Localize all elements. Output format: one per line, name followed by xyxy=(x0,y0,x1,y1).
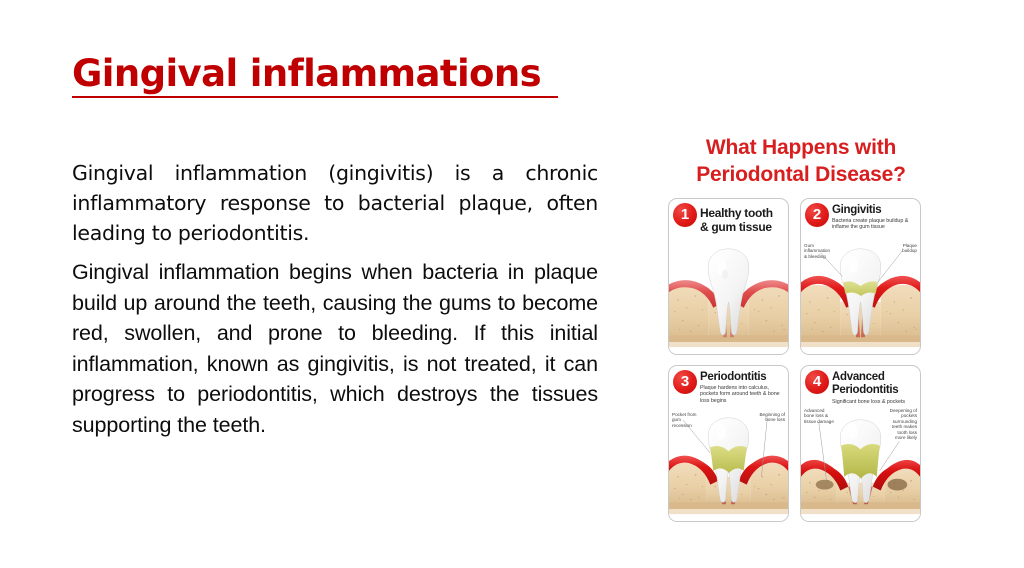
infographic-title-line-1: What Happens with xyxy=(655,134,947,161)
panel-2-callout-right: Plaque buildup xyxy=(902,243,917,254)
panel-2-header: 2 Gingivitis Bacteria create plaque buil… xyxy=(801,199,920,239)
panel-2-number-badge: 2 xyxy=(805,203,829,227)
panel-2-illustration: Gum inflammation & bleeding Plaque build… xyxy=(801,239,920,354)
panel-4-subtitle: Significant bone loss & pockets xyxy=(832,399,916,405)
stage-panel-3: 3 Periodontitis Plaque hardens into calc… xyxy=(668,365,789,522)
panel-3-illustration: Pocket from gum recession Beginning of b… xyxy=(669,406,788,521)
panel-3-title: Periodontitis xyxy=(700,371,784,384)
stage-panel-grid: 1 Healthy tooth & gum tissue xyxy=(668,198,934,522)
infographic-title-line-2: Periodontal Disease? xyxy=(655,161,947,188)
panel-3-number-badge: 3 xyxy=(673,370,697,394)
page-title: Gingival inflammations xyxy=(72,52,592,96)
panel-4-illustration: Advanced bone loss & tissue damage Deepe… xyxy=(801,406,920,521)
panel-3-callout-left: Pocket from gum recession xyxy=(672,412,697,428)
stage-panel-1: 1 Healthy tooth & gum tissue xyxy=(668,198,789,355)
panel-2-subtitle: Bacteria create plaque buildup & inflame… xyxy=(832,218,916,231)
panel-1-illustration xyxy=(669,239,788,354)
stage-panel-2: 2 Gingivitis Bacteria create plaque buil… xyxy=(800,198,921,355)
panel-3-subtitle: Plaque hardens into calculus, pockets fo… xyxy=(700,385,784,404)
panel-1-number-badge: 1 xyxy=(673,203,697,227)
panel-1-header: 1 Healthy tooth & gum tissue xyxy=(669,199,788,239)
periodontal-disease-infographic: What Happens with Periodontal Disease? 1… xyxy=(655,134,947,534)
panel-4-callout-left: Advanced bone loss & tissue damage xyxy=(804,408,834,424)
panel-4-header: 4 Advanced Periodontitis Significant bon… xyxy=(801,366,920,406)
panel-4-number-badge: 4 xyxy=(805,370,829,394)
infographic-title: What Happens with Periodontal Disease? xyxy=(655,134,947,188)
panel-3-callout-right: Beginning of bone loss xyxy=(759,412,785,423)
panel-2-title: Gingivitis xyxy=(832,204,916,217)
body-text-column: Gingival inflammation (gingivitis) is a … xyxy=(72,158,598,440)
panel-1-title: Healthy tooth & gum tissue xyxy=(700,204,784,234)
stage-panel-4: 4 Advanced Periodontitis Significant bon… xyxy=(800,365,921,522)
panel-4-title: Advanced Periodontitis xyxy=(832,371,916,397)
panel-4-callout-right: Deepening of pockets surrounding teeth m… xyxy=(890,408,917,440)
panel-2-callout-left: Gum inflammation & bleeding xyxy=(804,243,830,259)
body-paragraph-2: Gingival inflammation begins when bacter… xyxy=(72,257,598,440)
body-paragraph-1: Gingival inflammation (gingivitis) is a … xyxy=(72,158,598,248)
panel-3-header: 3 Periodontitis Plaque hardens into calc… xyxy=(669,366,788,406)
title-underline-rule xyxy=(72,96,558,98)
